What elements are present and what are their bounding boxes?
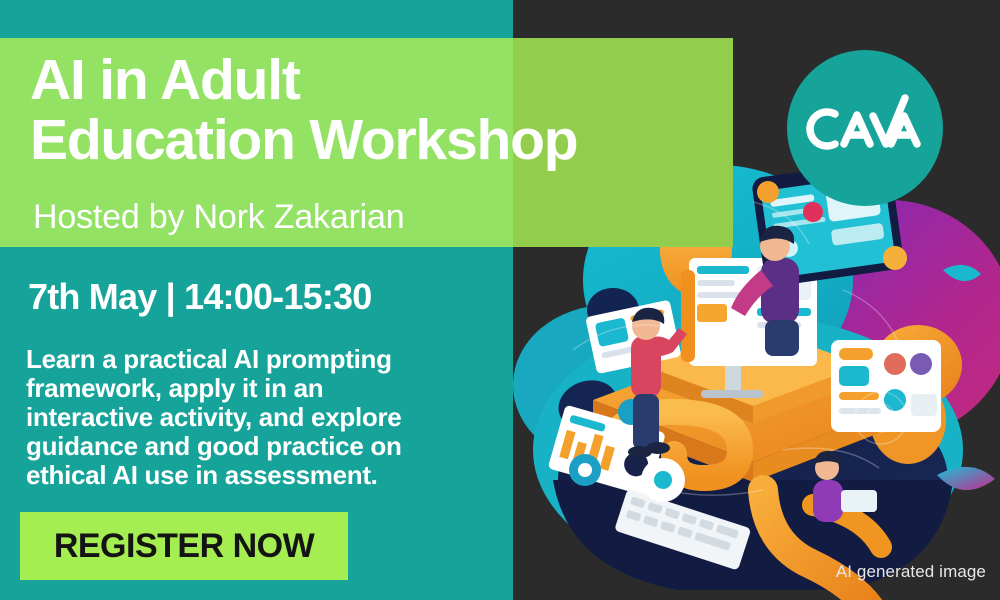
image-caption: AI generated image — [836, 562, 986, 582]
host-subtitle: Hosted by Nork Zakarian — [33, 197, 404, 237]
description-line: Learn a practical AI prompting — [26, 345, 486, 374]
title-line-1: AI in Adult — [30, 50, 730, 110]
event-description: Learn a practical AI prompting framework… — [26, 345, 486, 490]
title-line-2: Education Workshop — [30, 110, 730, 170]
register-now-button[interactable]: REGISTER NOW — [20, 512, 348, 580]
description-line: guidance and good practice on — [26, 432, 486, 461]
register-now-label: REGISTER NOW — [54, 527, 314, 566]
cava-wordmark-icon — [787, 50, 943, 206]
description-line: ethical AI use in assessment. — [26, 461, 486, 490]
cava-logo — [787, 50, 943, 206]
logo-circle — [787, 50, 943, 206]
event-date-time: 7th May | 14:00-15:30 — [28, 276, 371, 318]
page-title: AI in Adult Education Workshop — [30, 50, 730, 170]
description-line: framework, apply it in an — [26, 374, 486, 403]
event-poster: AI in Adult Education Workshop Hosted by… — [0, 0, 1000, 600]
description-line: interactive activity, and explore — [26, 403, 486, 432]
